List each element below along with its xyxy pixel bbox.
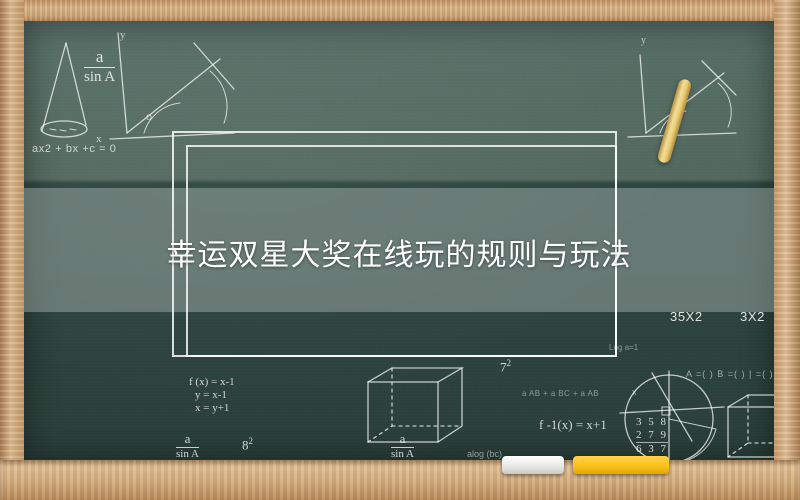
function-line-3: x = y+1: [189, 402, 235, 415]
right-x-label: x: [632, 387, 637, 397]
axes-angle-drawing: [110, 33, 234, 139]
digits-row-1: 3 5 8: [636, 416, 668, 429]
log-label: alog (bc): [467, 449, 502, 459]
quadratic-equation: ax2 + bx +c = 0: [32, 143, 117, 155]
fraction-a-over-sina-bottomleft: a sin A: [176, 431, 199, 460]
tray-white-chalk: [502, 456, 564, 474]
wood-frame-bottom: [0, 460, 800, 500]
chalkboard-banner: a sin A y x o ax2 + bx +c = 0 y o 35X2 3…: [0, 0, 800, 500]
wood-frame-left: [0, 0, 24, 500]
vector-expression: A =( ) B =( ) | =( ): [686, 369, 774, 379]
fraction-denominator-3: sin A: [391, 447, 414, 460]
fraction-denominator: sin A: [84, 67, 115, 86]
page-title: 幸运双星大奖在线玩的规则与玩法: [24, 236, 774, 276]
tray-yellow-chalk: [573, 456, 669, 474]
fraction-numerator-2: a: [185, 431, 191, 446]
wood-frame-top: [0, 0, 800, 22]
chalkboard-surface: a sin A y x o ax2 + bx +c = 0 y o 35X2 3…: [24, 21, 774, 460]
digits-block: 3 5 8 2 7 9 6 3 7: [636, 416, 668, 456]
wood-frame-right: [774, 0, 800, 500]
function-lines-block: f (x) = x-1 y = x-1 x = y+1: [189, 376, 235, 415]
digits-row-3: 6 3 7: [636, 442, 668, 456]
seven-exponent: 2: [507, 358, 512, 368]
sum-expression: a AB + a BC + a AB: [522, 389, 599, 398]
inverse-function-text: f -1(x) = x+1: [539, 417, 607, 433]
power-exponent: 2: [249, 436, 254, 446]
fraction-a-over-sina-topleft: a sin A: [84, 47, 115, 86]
fraction-numerator-3: a: [400, 431, 406, 446]
angle-label: o: [146, 109, 152, 124]
fraction-denominator-2: sin A: [176, 447, 199, 460]
power-expression: 82: [242, 436, 253, 453]
axis-y-label: y: [120, 29, 126, 41]
function-line-1: f (x) = x-1: [189, 376, 235, 389]
cube-drawing: [368, 368, 462, 442]
right-axis-y-label: y: [641, 35, 646, 46]
function-line-2: y = x-1: [189, 389, 235, 402]
seven-squared: 72: [500, 358, 511, 375]
fraction-numerator: a: [96, 47, 104, 66]
cone-drawing: [41, 43, 87, 137]
cube-drawing-2: [728, 395, 774, 457]
digits-row-2: 2 7 9: [636, 429, 668, 442]
fraction-a-over-sina-bottomcenter: a sin A: [391, 431, 414, 460]
